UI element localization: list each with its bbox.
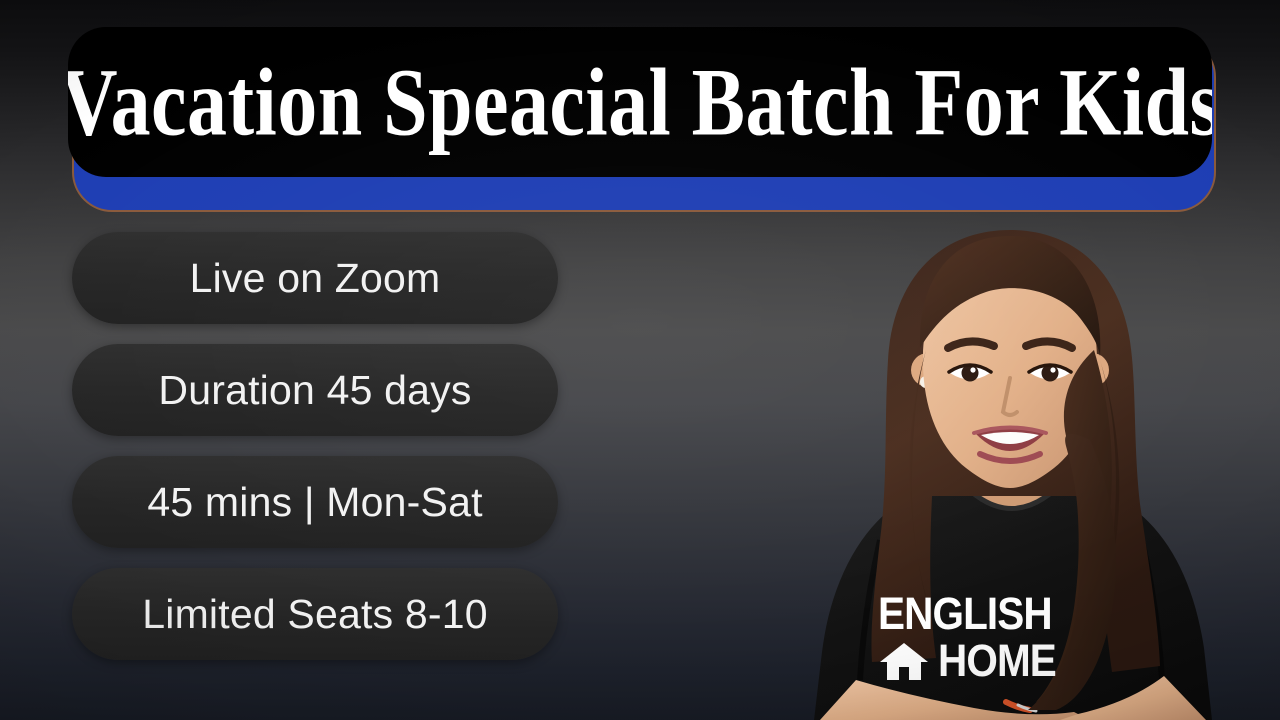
feature-pill-seats[interactable]: Limited Seats 8-10: [72, 568, 558, 660]
title-panel: Vacation Speacial Batch For Kids: [68, 27, 1212, 177]
slide-canvas: Vacation Speacial Batch For Kids Live on…: [0, 0, 1280, 720]
feature-pill-duration[interactable]: Duration 45 days: [72, 344, 558, 436]
presenter-illustration: [760, 210, 1280, 720]
feature-pill-label: Duration 45 days: [158, 370, 471, 411]
title-banner: Vacation Speacial Batch For Kids: [68, 27, 1216, 185]
feature-pill-live-on-zoom[interactable]: Live on Zoom: [72, 232, 558, 324]
feature-pill-label: Limited Seats 8-10: [142, 594, 487, 635]
feature-pill-list: Live on Zoom Duration 45 days 45 mins | …: [72, 232, 558, 660]
page-title: Vacation Speacial Batch For Kids: [68, 54, 1212, 150]
feature-pill-label: Live on Zoom: [190, 258, 441, 299]
eye-highlight-left: [970, 367, 975, 372]
presenter-photo: ENGLISH HOME: [760, 210, 1280, 720]
feature-pill-schedule[interactable]: 45 mins | Mon-Sat: [72, 456, 558, 548]
eye-highlight-right: [1050, 367, 1055, 372]
feature-pill-label: 45 mins | Mon-Sat: [147, 482, 482, 523]
